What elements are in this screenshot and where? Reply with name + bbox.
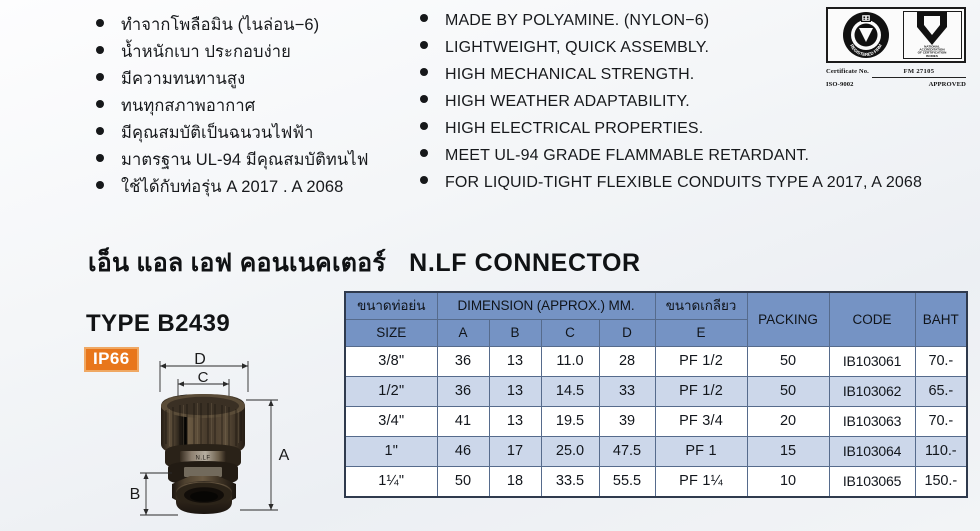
cell-c: 19.5 bbox=[541, 407, 599, 437]
cell-code: IB103063 bbox=[829, 407, 915, 437]
feature-text: HIGH MECHANICAL STRENGTH. bbox=[445, 66, 694, 84]
feature-item: HIGH MECHANICAL STRENGTH. bbox=[420, 66, 820, 93]
cell-size: 3/4" bbox=[345, 407, 437, 437]
feature-item: HIGH WEATHER ADAPTABILITY. bbox=[420, 93, 820, 120]
cell-e: PF 1 bbox=[655, 437, 747, 467]
certificate-status: APPROVED bbox=[929, 80, 966, 90]
bullet-dot-icon bbox=[96, 46, 104, 54]
feature-item: FOR LIQUID-TIGHT FLEXIBLE CONDUITS TYPE … bbox=[420, 174, 820, 201]
cell-code: IB103061 bbox=[829, 347, 915, 377]
bullet-dot-icon bbox=[420, 95, 428, 103]
cell-baht: 70.- bbox=[915, 407, 967, 437]
dimension-label-c: C bbox=[198, 369, 209, 386]
feature-text: ใช้ได้กับท่อรุ่น A 2017 . A 2068 bbox=[121, 174, 343, 200]
cell-b: 13 bbox=[489, 377, 541, 407]
cell-d: 28 bbox=[599, 347, 655, 377]
bsi-registered-firm-icon: REGISTERED FIRM bbox=[830, 11, 903, 59]
header-dim-b: B bbox=[489, 320, 541, 347]
feature-text: HIGH ELECTRICAL PROPERTIES. bbox=[445, 120, 703, 138]
header-dimension-group: DIMENSION (APPROX.) MM. bbox=[437, 292, 655, 320]
feature-item: ใช้ได้กับท่อรุ่น A 2017 . A 2068 bbox=[96, 174, 426, 201]
feature-text: HIGH WEATHER ADAPTABILITY. bbox=[445, 93, 690, 111]
svg-text:BODIES: BODIES bbox=[927, 54, 939, 58]
dimension-label-b: B bbox=[130, 486, 141, 503]
bullet-dot-icon bbox=[96, 154, 104, 162]
bullet-dot-icon bbox=[420, 68, 428, 76]
certificate-standard-line: ISO-9002 APPROVED bbox=[826, 80, 966, 90]
header-size-en: SIZE bbox=[345, 320, 437, 347]
feature-text: FOR LIQUID-TIGHT FLEXIBLE CONDUITS TYPE … bbox=[445, 174, 922, 192]
feature-text: ทำจากโพลือมิน (ไนล่อน−6) bbox=[121, 12, 319, 38]
feature-item: HIGH ELECTRICAL PROPERTIES. bbox=[420, 120, 820, 147]
header-thread-thai: ขนาดเกลียว bbox=[655, 292, 747, 320]
dimension-line-a bbox=[240, 400, 278, 510]
cell-d: 55.5 bbox=[599, 467, 655, 498]
cell-size: 1¼" bbox=[345, 467, 437, 498]
feature-text: MADE BY POLYAMINE. (NYLON−6) bbox=[445, 12, 709, 30]
table-row: 1"461725.047.5PF 115IB103064110.- bbox=[345, 437, 967, 467]
feature-item: มีความทนทานสูง bbox=[96, 66, 426, 93]
bullet-dot-icon bbox=[420, 176, 428, 184]
cell-packing: 50 bbox=[747, 377, 829, 407]
product-diagram: D C bbox=[128, 352, 333, 528]
cell-b: 13 bbox=[489, 347, 541, 377]
bullet-dot-icon bbox=[420, 149, 428, 157]
feature-item: ทำจากโพลือมิน (ไนล่อน−6) bbox=[96, 12, 426, 39]
table-row: 1/2"361314.533PF 1/250IB10306265.- bbox=[345, 377, 967, 407]
cell-baht: 110.- bbox=[915, 437, 967, 467]
feature-text: มีคุณสมบัติเป็นฉนวนไฟฟ้า bbox=[121, 120, 314, 146]
header-baht: BAHT bbox=[915, 292, 967, 347]
cell-a: 36 bbox=[437, 377, 489, 407]
cell-packing: 20 bbox=[747, 407, 829, 437]
cell-baht: 70.- bbox=[915, 347, 967, 377]
cell-packing: 15 bbox=[747, 437, 829, 467]
cell-baht: 150.- bbox=[915, 467, 967, 498]
page-title-thai: เอ็น แอล เอฟ คอนเนคเตอร์ bbox=[88, 249, 386, 277]
cell-baht: 65.- bbox=[915, 377, 967, 407]
header-thread-en: E bbox=[655, 320, 747, 347]
certificate-number-label: Certificate No. bbox=[826, 67, 869, 77]
cell-d: 33 bbox=[599, 377, 655, 407]
spec-table-head: ขนาดท่อย่น DIMENSION (APPROX.) MM. ขนาดเ… bbox=[345, 292, 967, 347]
cell-a: 46 bbox=[437, 437, 489, 467]
product-marking: N.LF bbox=[195, 456, 210, 462]
certificate-number-value: FM 27105 bbox=[872, 67, 966, 78]
header-code: CODE bbox=[829, 292, 915, 347]
bullet-dot-icon bbox=[420, 41, 428, 49]
feature-item: น้ำหนักเบา ประกอบง่าย bbox=[96, 39, 426, 66]
cell-a: 36 bbox=[437, 347, 489, 377]
cell-c: 11.0 bbox=[541, 347, 599, 377]
cell-c: 25.0 bbox=[541, 437, 599, 467]
feature-text: มาตรฐาน UL-94 มีคุณสมบัติทนไฟ bbox=[121, 147, 368, 173]
feature-text: MEET UL-94 GRADE FLAMMABLE RETARDANT. bbox=[445, 147, 809, 165]
spec-table-container: ขนาดท่อย่น DIMENSION (APPROX.) MM. ขนาดเ… bbox=[344, 291, 956, 498]
spec-table-body: 3/8"361311.028PF 1/250IB10306170.-1/2"36… bbox=[345, 347, 967, 498]
bullet-dot-icon bbox=[420, 122, 428, 130]
bullet-dot-icon bbox=[96, 19, 104, 27]
table-row: 3/8"361311.028PF 1/250IB10306170.- bbox=[345, 347, 967, 377]
cell-b: 13 bbox=[489, 407, 541, 437]
cell-a: 50 bbox=[437, 467, 489, 498]
dimension-label-a: A bbox=[279, 447, 290, 464]
cell-d: 47.5 bbox=[599, 437, 655, 467]
certificate-details: Certificate No. FM 27105 ISO-9002 APPROV… bbox=[826, 67, 966, 90]
certificate-standard: ISO-9002 bbox=[826, 80, 854, 90]
dimension-label-d: D bbox=[194, 352, 206, 368]
header-packing: PACKING bbox=[747, 292, 829, 347]
feature-item: ทนทุกสภาพอากาศ bbox=[96, 93, 426, 120]
feature-item: MADE BY POLYAMINE. (NYLON−6) bbox=[420, 12, 820, 39]
cell-c: 14.5 bbox=[541, 377, 599, 407]
cell-e: PF 3/4 bbox=[655, 407, 747, 437]
cell-packing: 10 bbox=[747, 467, 829, 498]
bullet-dot-icon bbox=[96, 73, 104, 81]
feature-item: มีคุณสมบัติเป็นฉนวนไฟฟ้า bbox=[96, 120, 426, 147]
header-dim-d: D bbox=[599, 320, 655, 347]
connector-illustration: N.LF bbox=[161, 394, 245, 514]
cell-code: IB103064 bbox=[829, 437, 915, 467]
bullet-dot-icon bbox=[96, 127, 104, 135]
ukas-accreditation-icon: NATIONAL ACCREDITATION OF CERTIFICATION … bbox=[903, 11, 962, 59]
bullet-dot-icon bbox=[96, 100, 104, 108]
cell-size: 1" bbox=[345, 437, 437, 467]
product-type-label: TYPE B2439 bbox=[86, 310, 230, 338]
page-title: เอ็น แอล เอฟ คอนเนคเตอร์ N.LF CONNECTOR bbox=[88, 243, 641, 283]
cell-e: PF 1/2 bbox=[655, 347, 747, 377]
feature-text: มีความทนทานสูง bbox=[121, 66, 245, 92]
cell-d: 39 bbox=[599, 407, 655, 437]
certification-block: REGISTERED FIRM NATIONAL ACCREDITATION O… bbox=[826, 7, 966, 90]
header-dim-a: A bbox=[437, 320, 489, 347]
bullet-dot-icon bbox=[96, 181, 104, 189]
spec-table: ขนาดท่อย่น DIMENSION (APPROX.) MM. ขนาดเ… bbox=[344, 291, 968, 498]
cell-b: 17 bbox=[489, 437, 541, 467]
feature-list-thai: ทำจากโพลือมิน (ไนล่อน−6)น้ำหนักเบา ประกอ… bbox=[96, 12, 426, 201]
bullet-dot-icon bbox=[420, 14, 428, 22]
cell-b: 18 bbox=[489, 467, 541, 498]
header-size-thai: ขนาดท่อย่น bbox=[345, 292, 437, 320]
table-row: 1¼"501833.555.5PF 1¼10IB103065150.- bbox=[345, 467, 967, 498]
cell-e: PF 1/2 bbox=[655, 377, 747, 407]
feature-item: MEET UL-94 GRADE FLAMMABLE RETARDANT. bbox=[420, 147, 820, 174]
feature-list-english: MADE BY POLYAMINE. (NYLON−6)LIGHTWEIGHT,… bbox=[420, 12, 820, 201]
cell-c: 33.5 bbox=[541, 467, 599, 498]
feature-item: มาตรฐาน UL-94 มีคุณสมบัติทนไฟ bbox=[96, 147, 426, 174]
page-title-english: N.LF CONNECTOR bbox=[409, 249, 641, 277]
header-dim-c: C bbox=[541, 320, 599, 347]
table-row: 3/4"411319.539PF 3/420IB10306370.- bbox=[345, 407, 967, 437]
cell-e: PF 1¼ bbox=[655, 467, 747, 498]
cell-size: 1/2" bbox=[345, 377, 437, 407]
feature-text: ทนทุกสภาพอากาศ bbox=[121, 93, 255, 119]
feature-item: LIGHTWEIGHT, QUICK ASSEMBLY. bbox=[420, 39, 820, 66]
cell-size: 3/8" bbox=[345, 347, 437, 377]
certificate-number-line: Certificate No. FM 27105 bbox=[826, 67, 966, 78]
cell-code: IB103062 bbox=[829, 377, 915, 407]
table-header-row-1: ขนาดท่อย่น DIMENSION (APPROX.) MM. ขนาดเ… bbox=[345, 292, 967, 320]
feature-text: น้ำหนักเบา ประกอบง่าย bbox=[121, 39, 291, 65]
cell-a: 41 bbox=[437, 407, 489, 437]
cell-packing: 50 bbox=[747, 347, 829, 377]
cell-code: IB103065 bbox=[829, 467, 915, 498]
certification-marks: REGISTERED FIRM NATIONAL ACCREDITATION O… bbox=[826, 7, 966, 63]
feature-text: LIGHTWEIGHT, QUICK ASSEMBLY. bbox=[445, 39, 709, 57]
